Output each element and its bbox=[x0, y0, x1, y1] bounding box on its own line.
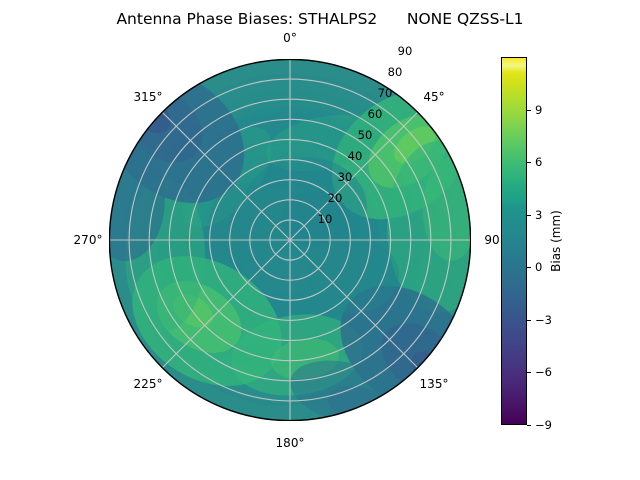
polar-grid bbox=[109, 59, 471, 421]
colorbar-tick-mark-n9 bbox=[527, 425, 531, 426]
polar-plot[interactable]: 10 20 30 40 50 60 70 80 90 bbox=[109, 59, 471, 421]
colorbar-label: Bias (mm) bbox=[549, 210, 563, 272]
r-tick-30: 30 bbox=[338, 170, 353, 184]
theta-tick-315: 315° bbox=[134, 90, 163, 104]
r-tick-80: 80 bbox=[388, 65, 403, 79]
colorbar-tick-mark-6 bbox=[527, 162, 531, 163]
r-tick-40: 40 bbox=[348, 149, 363, 163]
r-tick-10: 10 bbox=[318, 212, 333, 226]
colorbar-tick-mark-n3 bbox=[527, 320, 531, 321]
r-tick-50: 50 bbox=[358, 128, 373, 142]
theta-tick-270: 270° bbox=[74, 233, 103, 247]
colorbar-tick-9: 9 bbox=[535, 103, 542, 117]
colorbar-gradient bbox=[501, 57, 527, 425]
polar-heatmap-svg bbox=[109, 59, 471, 421]
page-title: Antenna Phase Biases: STHALPS2 NONE QZSS… bbox=[0, 10, 640, 28]
colorbar-tick-n6: −6 bbox=[535, 365, 552, 379]
colorbar-tick-0: 0 bbox=[535, 260, 542, 274]
colorbar-tick-3: 3 bbox=[535, 208, 542, 222]
colorbar-tick-mark-n6 bbox=[527, 372, 531, 373]
theta-tick-180: 180° bbox=[276, 436, 305, 450]
theta-tick-90: 90 bbox=[484, 233, 499, 247]
theta-tick-225: 225° bbox=[134, 377, 163, 391]
theta-tick-0: 0° bbox=[283, 31, 297, 45]
figure-canvas: Antenna Phase Biases: STHALPS2 NONE QZSS… bbox=[0, 0, 640, 480]
colorbar-tick-6: 6 bbox=[535, 155, 542, 169]
colorbar-tick-mark-0 bbox=[527, 267, 531, 268]
r-tick-20: 20 bbox=[328, 191, 343, 205]
colorbar-tick-n9: −9 bbox=[535, 418, 552, 432]
r-tick-90: 90 bbox=[398, 44, 413, 58]
r-tick-60: 60 bbox=[368, 107, 383, 121]
colorbar-tick-mark-9 bbox=[527, 110, 531, 111]
r-tick-70: 70 bbox=[378, 86, 393, 100]
colorbar[interactable]: 9 6 3 0 −3 −6 −9 bbox=[501, 57, 527, 425]
theta-tick-135: 135° bbox=[420, 377, 449, 391]
theta-tick-45: 45° bbox=[423, 90, 444, 104]
colorbar-tick-n3: −3 bbox=[535, 313, 552, 327]
colorbar-tick-mark-3 bbox=[527, 215, 531, 216]
